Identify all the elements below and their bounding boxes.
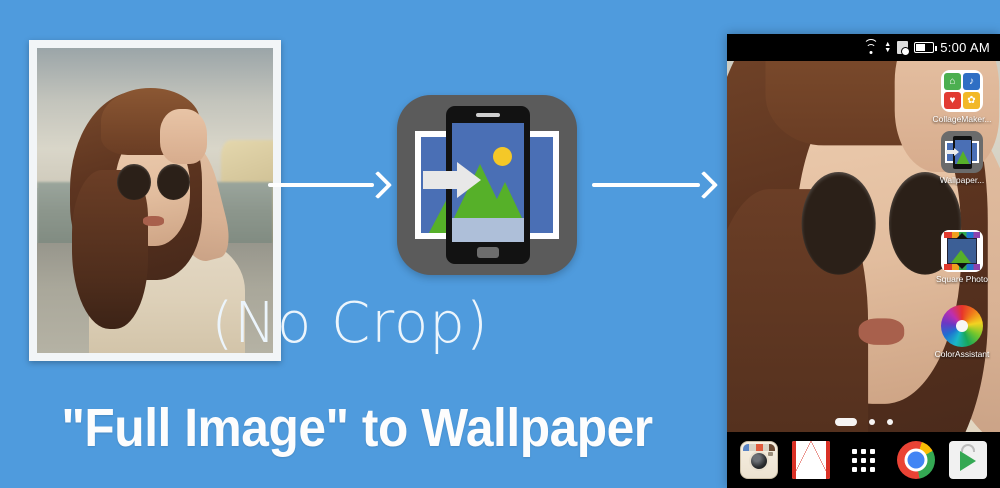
collage-tile-home: ⌂: [944, 73, 961, 90]
play-triangle: [960, 451, 976, 471]
subtitle: (No Crop): [0, 296, 700, 352]
color-assistant-icon[interactable]: [941, 305, 983, 347]
dock: [727, 432, 1000, 488]
arrow-shaft: [423, 171, 459, 189]
page-indicator: [727, 418, 1000, 426]
collage-maker-icon[interactable]: ⌂ ♪ ♥ ✿: [941, 70, 983, 112]
wifi-icon: [863, 42, 878, 54]
data-transfer-icon: ▲▼: [884, 42, 891, 54]
chrome-icon[interactable]: [897, 441, 935, 479]
arrow-head: [364, 171, 392, 199]
status-bar-clock: 5:00 AM: [940, 40, 990, 55]
figure-hand: [160, 109, 207, 164]
camera-icon[interactable]: [740, 441, 778, 479]
foreground-band: [452, 218, 524, 242]
app-label: Square Photo: [928, 274, 996, 285]
page-dot-active[interactable]: [835, 418, 857, 426]
arrow-right-icon: [423, 162, 481, 198]
wallpaper-app-icon: [397, 95, 577, 275]
arrow-up-icon: [956, 263, 968, 269]
arrow-right-icon: [268, 174, 388, 196]
arrow-shaft: [592, 183, 700, 187]
home-screen-app-column: ⌂ ♪ ♥ ✿ CollageMaker... Wallpaper...: [928, 70, 996, 366]
camera-lens: [749, 451, 769, 471]
home-button-icon: [477, 247, 499, 258]
app-label: CollageMaker...: [928, 114, 996, 125]
sun-icon: [493, 147, 512, 166]
app-shortcut-collagemaker[interactable]: ⌂ ♪ ♥ ✿ CollageMaker...: [928, 70, 996, 125]
phone-mockup: ▲▼ 5:00 AM ⌂ ♪ ♥ ✿ CollageMaker...: [727, 34, 1000, 488]
speaker-icon: [476, 113, 500, 117]
collage-tile-paw: ✿: [963, 92, 980, 109]
page-dot[interactable]: [869, 419, 875, 425]
play-store-icon[interactable]: [949, 441, 987, 479]
page-title: "Full Image" to Wallpaper: [29, 397, 686, 459]
collage-tile-heart: ♥: [944, 92, 961, 109]
app-shortcut-square-photo[interactable]: Square Photo: [928, 230, 996, 285]
square-photo-icon[interactable]: [941, 230, 983, 272]
camera-strip: [743, 444, 775, 451]
gmail-icon[interactable]: [792, 441, 830, 479]
arrow-head: [690, 171, 718, 199]
app-shortcut-wallpaper[interactable]: Wallpaper...: [928, 131, 996, 186]
arrow-head: [457, 162, 481, 198]
figure-lips: [858, 318, 905, 346]
arrow-shaft: [268, 183, 374, 187]
app-drawer-icon[interactable]: [844, 441, 882, 479]
app-label: Wallpaper...: [928, 175, 996, 186]
figure-lips: [143, 216, 164, 226]
collage-tile-music: ♪: [963, 73, 980, 90]
status-bar[interactable]: ▲▼ 5:00 AM: [727, 34, 1000, 61]
arrow-down-icon: [956, 233, 968, 239]
camera-viewfinder: [768, 452, 773, 456]
app-label: ColorAssistant: [928, 349, 996, 360]
page-dot[interactable]: [887, 419, 893, 425]
sim-card-icon: [897, 41, 908, 54]
photo-thumbnail: [947, 238, 977, 264]
battery-icon: [914, 42, 934, 53]
wallpaper-app-icon[interactable]: [941, 131, 983, 173]
arrow-right-icon: [592, 174, 714, 196]
app-shortcut-colorassistant[interactable]: ColorAssistant: [928, 305, 996, 360]
sunglasses-icon: [117, 164, 190, 201]
